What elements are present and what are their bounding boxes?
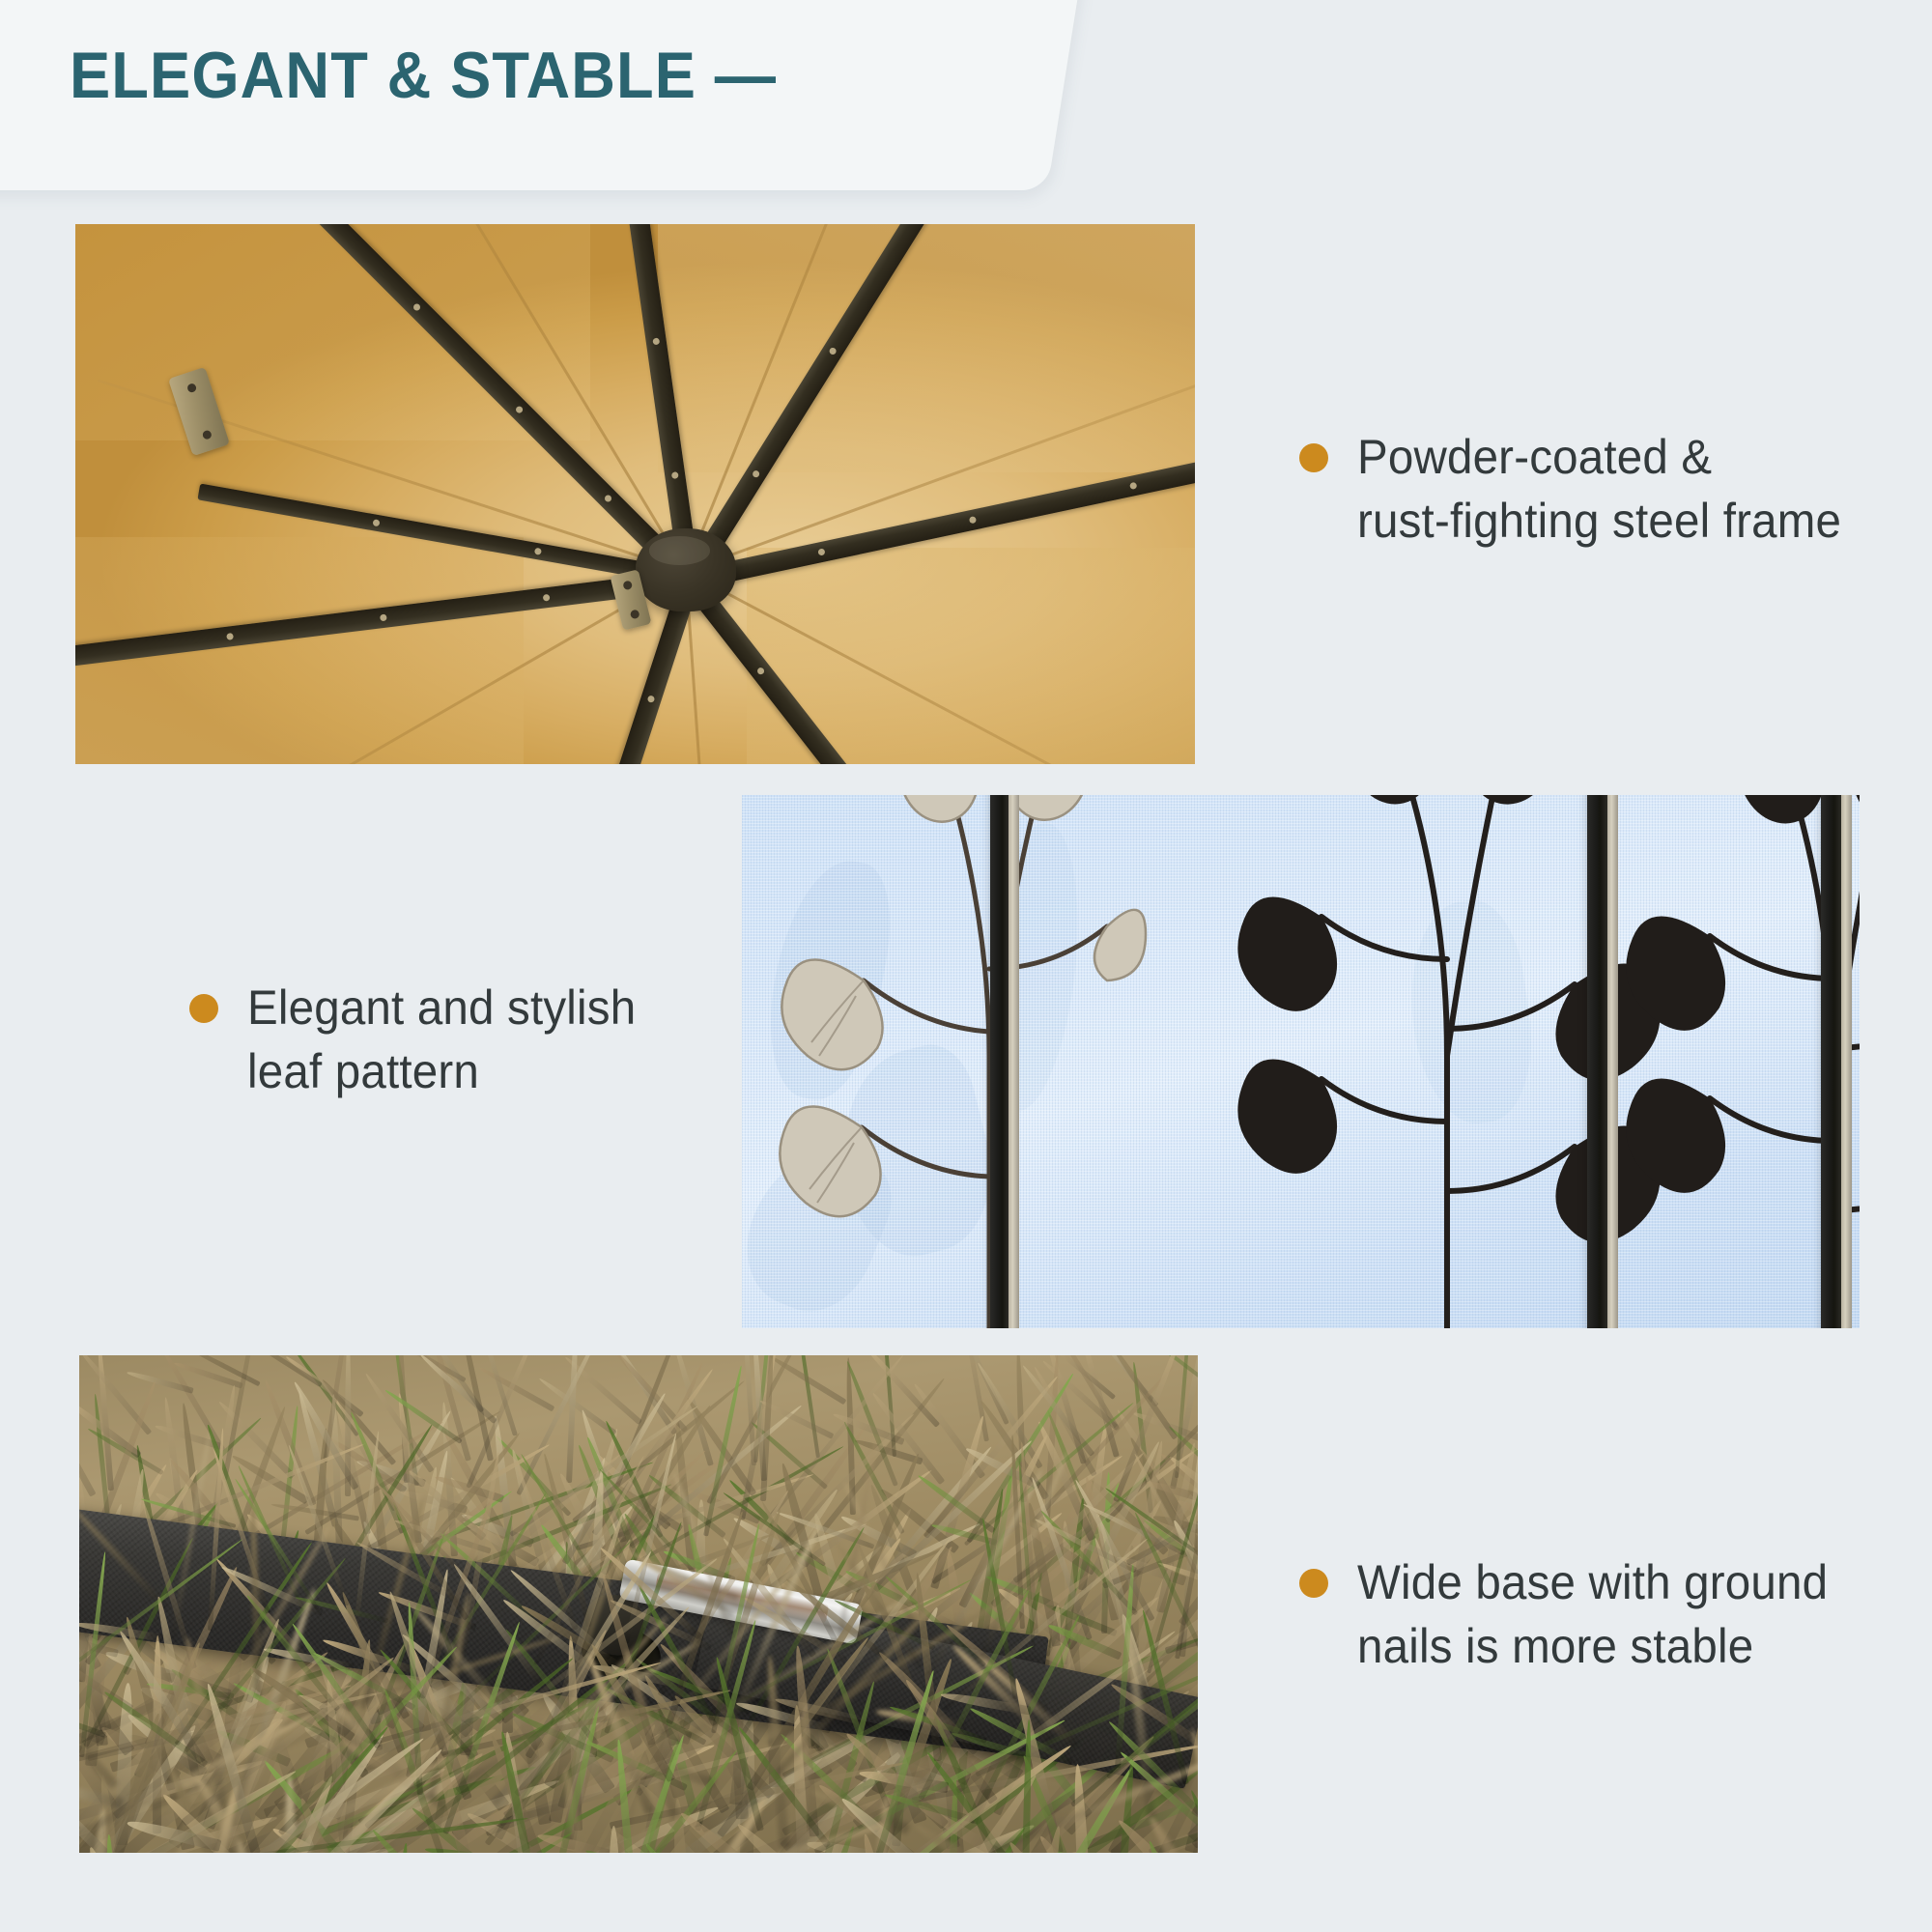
screen-post-left bbox=[990, 795, 1009, 1328]
feature-text-ground-nails: Wide base with ground nails is more stab… bbox=[1357, 1550, 1828, 1678]
ground-nail-photo bbox=[79, 1355, 1198, 1853]
screen-post-right bbox=[1821, 795, 1842, 1328]
canopy-hub bbox=[636, 528, 736, 611]
feature-bullet-ground-nails: Wide base with ground nails is more stab… bbox=[1299, 1550, 1918, 1678]
infographic-stage: ELEGANT & STABLE — bbox=[0, 0, 1932, 1932]
screen-post-middle bbox=[1587, 795, 1608, 1328]
bullet-dot-icon bbox=[189, 994, 218, 1023]
leaf-pattern-photo bbox=[742, 795, 1860, 1328]
grass-texture-front bbox=[79, 1355, 1198, 1853]
feature-text-steel-frame: Powder-coated & rust-fighting steel fram… bbox=[1357, 425, 1841, 553]
canopy-underside-photo bbox=[75, 224, 1195, 764]
feature-bullet-leaf-pattern: Elegant and stylish leaf pattern bbox=[189, 976, 692, 1103]
feature-bullet-steel-frame: Powder-coated & rust-fighting steel fram… bbox=[1299, 425, 1918, 553]
bullet-dot-icon bbox=[1299, 1569, 1328, 1598]
page-title: ELEGANT & STABLE — bbox=[70, 43, 777, 108]
feature-text-leaf-pattern: Elegant and stylish leaf pattern bbox=[247, 976, 636, 1103]
bullet-dot-icon bbox=[1299, 443, 1328, 472]
